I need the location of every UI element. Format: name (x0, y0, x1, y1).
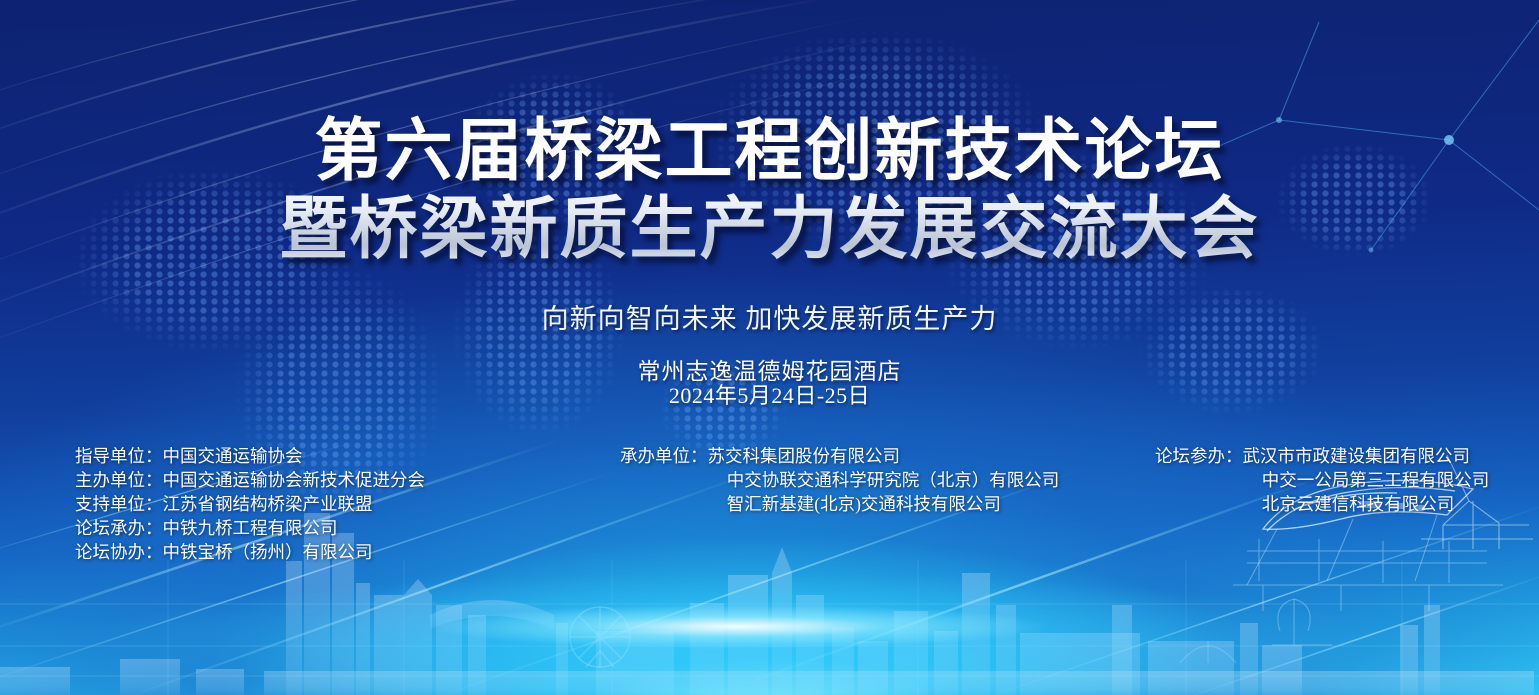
credit-row: 指导单位： 中国交通运输协会 (75, 444, 425, 468)
credits-section: 指导单位： 中国交通运输协会 主办单位： 中国交通运输协会新技术促进分会 支持单… (0, 444, 1539, 564)
title-line-2: 暨桥梁新质生产力发展交流大会 (0, 190, 1539, 268)
credit-value: 中铁宝桥（扬州）有限公司 (163, 540, 373, 564)
credits-column-left: 指导单位： 中国交通运输协会 主办单位： 中国交通运输协会新技术促进分会 支持单… (75, 444, 425, 564)
credit-row: 论坛参办： 武汉市市政建设集团有限公司 (1155, 444, 1489, 468)
event-dates: 2024年5月24日-25日 (0, 378, 1539, 410)
credit-value: 中国交通运输协会新技术促进分会 (163, 468, 426, 492)
conference-banner: 第六届桥梁工程创新技术论坛 暨桥梁新质生产力发展交流大会 向新向智向未来 加快发… (0, 0, 1539, 695)
credit-row: 论坛协办： 中铁宝桥（扬州）有限公司 (75, 540, 425, 564)
credit-label: 主办单位： (75, 468, 163, 492)
credit-value: 中铁九桥工程有限公司 (163, 516, 338, 540)
credit-label: 指导单位： (75, 444, 163, 468)
credit-row: 主办单位： 中国交通运输协会新技术促进分会 (75, 468, 425, 492)
banner-content: 第六届桥梁工程创新技术论坛 暨桥梁新质生产力发展交流大会 向新向智向未来 加快发… (0, 0, 1539, 695)
credit-label: 论坛协办： (75, 540, 163, 564)
credit-row: 论坛承办： 中铁九桥工程有限公司 (75, 516, 425, 540)
credit-value: 中国交通运输协会 (163, 444, 303, 468)
event-subtitle: 向新向智向未来 加快发展新质生产力 (0, 297, 1539, 336)
credit-label: 承办单位： (620, 444, 708, 468)
credit-label: 支持单位： (75, 492, 163, 516)
credit-label: 论坛参办： (1155, 444, 1243, 468)
credit-label: 论坛承办： (75, 516, 163, 540)
event-title: 第六届桥梁工程创新技术论坛 暨桥梁新质生产力发展交流大会 (0, 112, 1539, 268)
credits-column-right: 论坛参办： 武汉市市政建设集团有限公司 中交一公局第三工程有限公司 北京云建信科… (1155, 444, 1489, 516)
credit-value: 北京云建信科技有限公司 (1155, 492, 1489, 516)
credit-value: 苏交科集团股份有限公司 (708, 444, 901, 468)
credit-value: 中交协联交通科学研究院（北京）有限公司 (620, 468, 1059, 492)
credit-row: 支持单位： 江苏省钢结构桥梁产业联盟 (75, 492, 425, 516)
credit-value: 智汇新基建(北京)交通科技有限公司 (620, 492, 1059, 516)
credit-value: 武汉市市政建设集团有限公司 (1243, 444, 1471, 468)
credit-value: 江苏省钢结构桥梁产业联盟 (163, 492, 373, 516)
title-line-1: 第六届桥梁工程创新技术论坛 (314, 113, 1224, 189)
credit-value: 中交一公局第三工程有限公司 (1155, 468, 1489, 492)
credits-column-middle: 承办单位： 苏交科集团股份有限公司 中交协联交通科学研究院（北京）有限公司 智汇… (620, 444, 1059, 516)
credit-row: 承办单位： 苏交科集团股份有限公司 (620, 444, 1059, 468)
